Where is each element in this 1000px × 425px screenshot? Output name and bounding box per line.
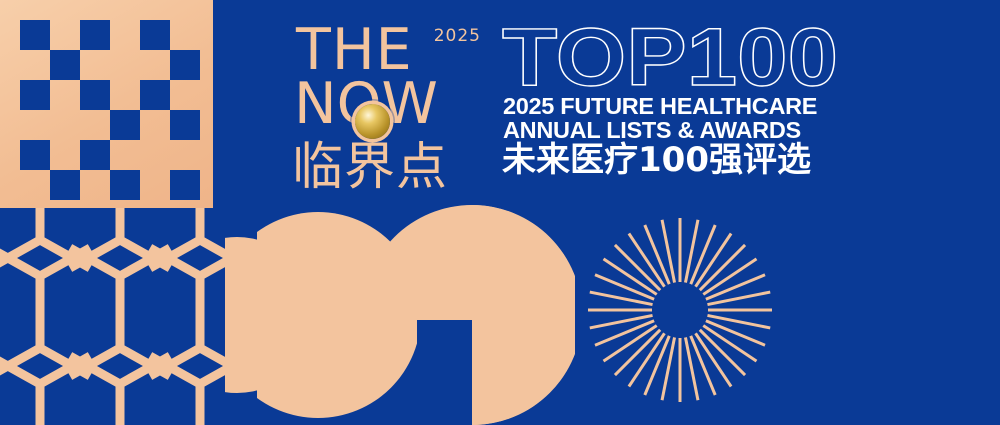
checker-cell bbox=[50, 50, 80, 80]
stripe-half-left bbox=[793, 216, 893, 408]
checker-cell bbox=[20, 80, 50, 110]
logo-chinese-text: 临界点 bbox=[292, 142, 448, 193]
diagonal-stripe-svg bbox=[786, 206, 1000, 425]
checker-cell bbox=[50, 170, 80, 200]
gold-orb-icon bbox=[355, 104, 390, 139]
checker-cell bbox=[20, 140, 50, 170]
hexagon-lattice-svg bbox=[0, 208, 240, 425]
headline-block: TOP100 2025 FUTURE HEALTHCARE ANNUAL LIS… bbox=[502, 22, 847, 187]
top100-title: TOP100 bbox=[502, 22, 840, 94]
checkerboard-pattern bbox=[0, 0, 213, 208]
hexagon-lattice-pattern bbox=[0, 208, 240, 425]
quarter-cut-circle-mask bbox=[362, 205, 575, 425]
headline-chinese: 未来医疗100强评选 bbox=[502, 141, 811, 179]
checker-cell bbox=[170, 50, 200, 80]
checker-cell bbox=[170, 110, 200, 140]
sunburst-svg bbox=[585, 215, 775, 405]
checker-cell bbox=[20, 20, 50, 50]
checker-cell bbox=[110, 110, 140, 140]
checker-cell bbox=[80, 80, 110, 110]
headline-english-line1: 2025 FUTURE HEALTHCARE bbox=[503, 94, 817, 119]
diagonal-stripe-panel bbox=[786, 206, 1000, 425]
checker-cell bbox=[140, 20, 170, 50]
sunburst-pattern bbox=[585, 215, 775, 405]
checker-cell bbox=[170, 170, 200, 200]
circle-group bbox=[225, 205, 575, 425]
checker-cell bbox=[80, 140, 110, 170]
logo-year-text: 2025 bbox=[434, 26, 481, 46]
stripe-half-right bbox=[893, 216, 1000, 425]
circle-group-svg bbox=[225, 205, 575, 425]
top100-outline-svg: TOP100 bbox=[502, 22, 840, 94]
checker-cell bbox=[110, 170, 140, 200]
checker-cell bbox=[80, 20, 110, 50]
poster-banner: THE 2025 NOW 临界点 TOP100 2025 FUTURE HEAL… bbox=[0, 0, 1000, 425]
checker-cell bbox=[140, 80, 170, 110]
top100-outline-text: TOP100 bbox=[502, 22, 838, 94]
brand-logo: THE 2025 NOW 临界点 bbox=[296, 22, 481, 192]
